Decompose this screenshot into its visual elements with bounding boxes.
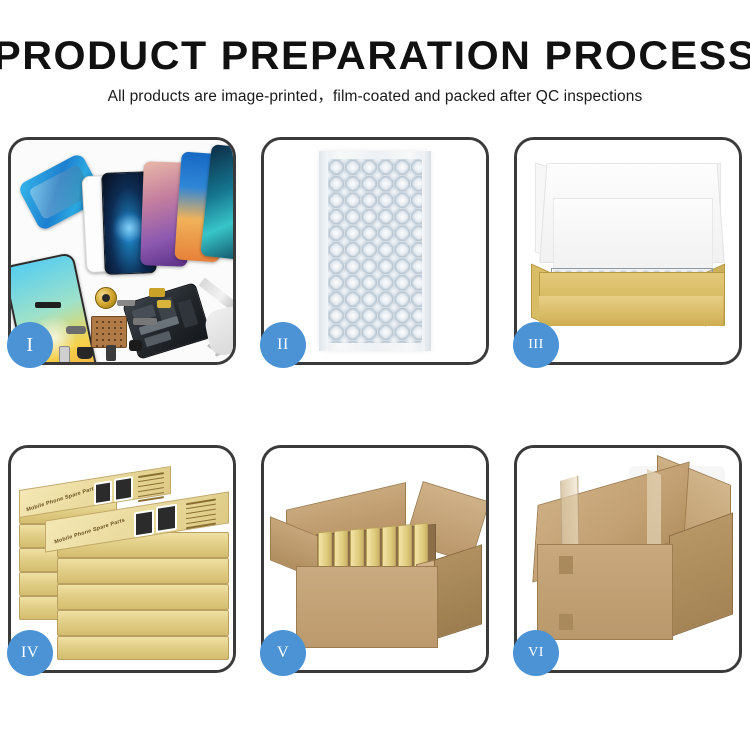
- flex-cable-part-1: [66, 326, 86, 334]
- bubble-wrap-sleeve: [319, 151, 431, 351]
- retail-box-fr-5: [57, 636, 229, 660]
- retail-box-fr-4: [57, 610, 229, 636]
- gold-chip-part-2: [157, 300, 171, 308]
- retail-box-checklist-1: [138, 472, 164, 505]
- flex-cable-part-2: [133, 318, 157, 325]
- carton-seam-bottom: [559, 614, 573, 630]
- step-badge-5: V: [260, 630, 306, 676]
- gold-chip-part-1: [149, 288, 165, 297]
- hand: [203, 304, 233, 357]
- process-step-3: III: [514, 137, 742, 365]
- process-step-5: V: [261, 445, 489, 673]
- page-title: PRODUCT PREPARATION PROCESS: [0, 34, 750, 78]
- retail-box-screen-art-4: [156, 504, 177, 533]
- retail-box-screen-art-2: [114, 476, 133, 502]
- retail-box-fr-3: [57, 584, 229, 610]
- carton-side-panel: [434, 544, 482, 640]
- sleeve-seam-left: [319, 151, 328, 351]
- retail-box-checklist-2: [186, 498, 216, 532]
- step-badge-6: VI: [513, 630, 559, 676]
- infographic-page: PRODUCT PREPARATION PROCESS All products…: [0, 0, 750, 750]
- flex-cable-part-3: [117, 300, 135, 306]
- loudspeaker-part: [77, 347, 93, 359]
- retail-box-screen-art-3: [134, 509, 154, 537]
- battery-part: [106, 345, 116, 361]
- kraft-box-front: [539, 296, 723, 326]
- foam-sheet: [553, 198, 713, 278]
- sim-tray-part: [59, 346, 70, 362]
- carton-front-panel: [296, 566, 438, 648]
- camera-module-part: [129, 340, 142, 351]
- step-badge-3: III: [513, 322, 559, 368]
- retail-box-brand-label-2: Mobile Phone Spare Parts: [54, 517, 125, 545]
- speaker-coil-part: [95, 287, 117, 309]
- sealed-carton-front: [537, 544, 673, 640]
- page-subtitle: All products are image-printed，film-coat…: [0, 87, 750, 107]
- header: PRODUCT PREPARATION PROCESS All products…: [0, 0, 750, 107]
- sealed-carton-side: [669, 512, 733, 637]
- retail-box-stack: Mobile Phone Spare Parts: [15, 470, 231, 660]
- screw-tray-part: [91, 316, 127, 348]
- step-badge-2: II: [260, 322, 306, 368]
- retail-box-screen-art-1: [94, 480, 112, 505]
- retail-box-fr-2: [57, 558, 229, 584]
- earpiece-part: [35, 302, 61, 308]
- process-step-4: Mobile Phone Spare Parts: [8, 445, 236, 673]
- bubble-grid: [328, 159, 422, 343]
- process-step-2: II: [261, 137, 489, 365]
- step-badge-4: IV: [7, 630, 53, 676]
- step-badge-1: I: [7, 322, 53, 368]
- carton-seam-top: [559, 556, 573, 574]
- process-step-6: VI: [514, 445, 742, 673]
- process-step-1: I: [8, 137, 236, 365]
- process-step-grid: I II: [8, 137, 742, 673]
- sleeve-seam-right: [422, 151, 431, 351]
